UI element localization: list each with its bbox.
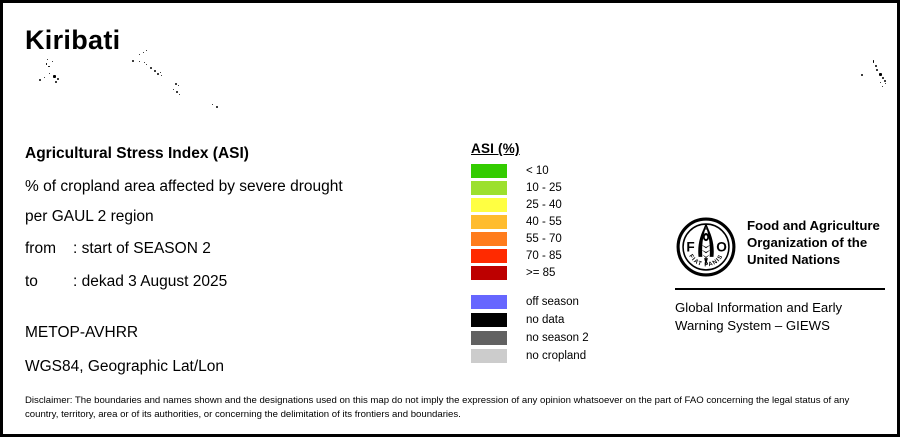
period-from-row: from : start of SEASON 2 bbox=[25, 240, 445, 258]
period-from-label: from bbox=[25, 240, 73, 258]
map-island-dot bbox=[179, 94, 180, 95]
legend-status-label: no season 2 bbox=[526, 332, 589, 344]
map-island-dot bbox=[150, 67, 152, 69]
map-island-dot bbox=[46, 63, 47, 65]
map-island-dot bbox=[55, 81, 57, 83]
map-island-dot bbox=[882, 77, 884, 79]
period-to-row: to : dekad 3 August 2025 bbox=[25, 273, 445, 291]
legend-status-swatch bbox=[471, 295, 507, 309]
period-to-value: : dekad 3 August 2025 bbox=[73, 273, 227, 291]
period-from-value: : start of SEASON 2 bbox=[73, 240, 211, 258]
map-island-dot bbox=[144, 62, 145, 63]
period-to-label: to bbox=[25, 273, 73, 291]
legend-class-label: 40 - 55 bbox=[526, 216, 562, 228]
asi-aggregation-level: per GAUL 2 region bbox=[25, 209, 445, 225]
map-island-dot bbox=[861, 74, 863, 76]
fao-org-line-1: Food and Agriculture bbox=[747, 218, 880, 235]
legend-class-row: 40 - 55 bbox=[471, 213, 589, 230]
map-island-dot bbox=[875, 65, 877, 67]
legend-class-label: < 10 bbox=[526, 165, 549, 177]
legend-class-swatch bbox=[471, 198, 507, 212]
legend-class-swatch bbox=[471, 181, 507, 195]
fao-logo-lockup: F O A FIAT PANIS Food and Agriculture Or… bbox=[675, 216, 885, 278]
legend-status-swatch bbox=[471, 313, 507, 327]
legend-class-row: < 10 bbox=[471, 162, 589, 179]
legend-class-label: 70 - 85 bbox=[526, 250, 562, 262]
legend-status-classes: off seasonno datano season 2no cropland bbox=[471, 293, 589, 365]
legend-status-swatch bbox=[471, 349, 507, 363]
legend-status-label: off season bbox=[526, 296, 579, 308]
map-island-dot bbox=[49, 73, 50, 74]
legend-status-row: off season bbox=[471, 293, 589, 311]
legend-status-label: no cropland bbox=[526, 350, 586, 362]
projection-label: WGS84, Geographic Lat/Lon bbox=[25, 359, 224, 375]
map-island-dot bbox=[139, 54, 140, 55]
svg-text:O: O bbox=[716, 239, 727, 254]
giews-name: Global Information and Early Warning Sys… bbox=[675, 299, 885, 334]
map-island-dot bbox=[154, 70, 156, 72]
legend-class-label: >= 85 bbox=[526, 267, 555, 279]
map-island-dot bbox=[47, 59, 48, 60]
map-island-dot bbox=[216, 106, 218, 108]
map-island-dot bbox=[132, 60, 134, 62]
map-island-dot bbox=[48, 66, 50, 67]
legend-class-label: 55 - 70 bbox=[526, 233, 562, 245]
svg-text:F: F bbox=[686, 239, 694, 254]
fao-org-line-2: Organization of the bbox=[747, 235, 880, 252]
asi-subtitle: % of cropland area affected by severe dr… bbox=[25, 179, 445, 195]
map-island-dot bbox=[157, 73, 159, 75]
map-island-dot bbox=[161, 75, 162, 76]
map-island-dot bbox=[57, 78, 59, 80]
legend-class-swatch bbox=[471, 164, 507, 178]
fao-organization-name: Food and Agriculture Organization of the… bbox=[747, 216, 880, 269]
legend-value-classes: < 1010 - 2525 - 4040 - 5555 - 7070 - 85>… bbox=[471, 162, 589, 281]
map-island-dot bbox=[173, 89, 174, 90]
svg-text:A: A bbox=[703, 223, 710, 233]
map-poster: Kiribati Agricultural Stress Index (ASI)… bbox=[0, 0, 900, 437]
legend-class-row: 10 - 25 bbox=[471, 179, 589, 196]
legend-status-label: no data bbox=[526, 314, 564, 326]
map-island-dot bbox=[882, 86, 883, 87]
technical-metadata-block: METOP-AVHRR WGS84, Geographic Lat/Lon bbox=[25, 325, 224, 392]
legend-class-row: 25 - 40 bbox=[471, 196, 589, 213]
legend-status-swatch bbox=[471, 331, 507, 345]
map-island-dot bbox=[176, 91, 178, 93]
legend-class-swatch bbox=[471, 266, 507, 280]
map-island-dot bbox=[53, 75, 56, 78]
fao-branding-block: F O A FIAT PANIS Food and Agriculture Or… bbox=[675, 216, 885, 334]
map-island-dot bbox=[884, 80, 886, 82]
map-island-dot bbox=[143, 52, 144, 53]
map-island-dot bbox=[175, 83, 177, 85]
legend-class-swatch bbox=[471, 232, 507, 246]
fao-emblem-icon: F O A FIAT PANIS bbox=[675, 216, 737, 278]
legend-status-row: no season 2 bbox=[471, 329, 589, 347]
map-island-dot bbox=[44, 77, 45, 78]
map-island-dot bbox=[52, 61, 53, 62]
legend-status-row: no cropland bbox=[471, 347, 589, 365]
giews-line-2: Warning System – GIEWS bbox=[675, 317, 885, 335]
legend-class-row: 70 - 85 bbox=[471, 247, 589, 264]
legend: ASI (%) < 1010 - 2525 - 4040 - 5555 - 70… bbox=[471, 141, 589, 365]
legend-class-label: 25 - 40 bbox=[526, 199, 562, 211]
fao-divider bbox=[675, 288, 885, 290]
map-island-dot bbox=[873, 60, 874, 63]
map-island-dot bbox=[39, 79, 41, 81]
map-island-dot bbox=[879, 73, 882, 76]
map-island-dot bbox=[212, 104, 213, 105]
disclaimer-text: Disclaimer: The boundaries and names sho… bbox=[25, 394, 865, 422]
map-island-dot bbox=[880, 82, 881, 83]
map-island-dot bbox=[139, 61, 140, 62]
sensor-label: METOP-AVHRR bbox=[25, 325, 224, 341]
legend-class-row: 55 - 70 bbox=[471, 230, 589, 247]
fao-org-line-3: United Nations bbox=[747, 252, 880, 269]
map-description-block: Agricultural Stress Index (ASI) % of cro… bbox=[25, 146, 445, 306]
legend-class-label: 10 - 25 bbox=[526, 182, 562, 194]
map-island-dot bbox=[876, 69, 878, 71]
giews-line-1: Global Information and Early bbox=[675, 299, 885, 317]
map-island-dot bbox=[146, 50, 147, 51]
page-title: Kiribati bbox=[25, 25, 120, 56]
legend-class-swatch bbox=[471, 249, 507, 263]
legend-class-swatch bbox=[471, 215, 507, 229]
map-island-dot bbox=[178, 85, 179, 86]
map-island-dot bbox=[160, 72, 161, 73]
map-island-dot bbox=[146, 64, 147, 65]
legend-status-row: no data bbox=[471, 311, 589, 329]
map-island-dot bbox=[885, 83, 886, 84]
legend-class-row: >= 85 bbox=[471, 264, 589, 281]
asi-heading: Agricultural Stress Index (ASI) bbox=[25, 146, 445, 162]
legend-title: ASI (%) bbox=[471, 141, 589, 156]
